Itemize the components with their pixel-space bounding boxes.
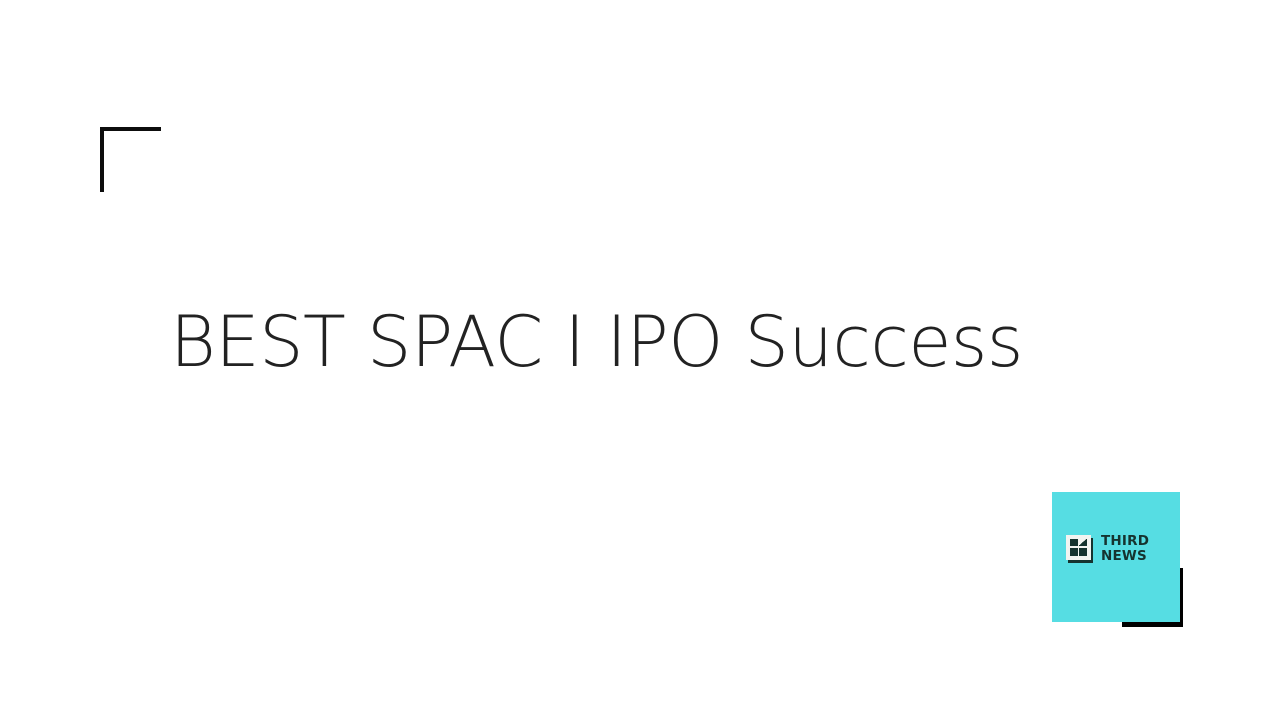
newspaper-icon (1066, 535, 1094, 563)
brand-wordmark-line-2: NEWS (1101, 549, 1149, 564)
title-slide: BEST SPAC I IPO Success THIRD NEWS (0, 0, 1280, 720)
newspaper-icon-pane-2 (1079, 539, 1087, 547)
corner-bracket-decoration (100, 127, 161, 192)
brand-wordmark: THIRD NEWS (1101, 534, 1149, 563)
brand-logo-block: THIRD NEWS (1052, 492, 1180, 622)
newspaper-icon-pane-4 (1079, 548, 1087, 556)
logo-lockup: THIRD NEWS (1066, 534, 1149, 563)
newspaper-icon-grid (1070, 539, 1087, 556)
newspaper-icon-pane-3 (1070, 548, 1078, 556)
newspaper-icon-face (1066, 535, 1091, 560)
slide-title: BEST SPAC I IPO Success (170, 300, 1070, 384)
corner-bracket-vertical-rule (100, 127, 104, 192)
corner-bracket-horizontal-rule (100, 127, 161, 131)
brand-wordmark-line-1: THIRD (1101, 534, 1149, 549)
newspaper-icon-pane-1 (1070, 539, 1078, 547)
